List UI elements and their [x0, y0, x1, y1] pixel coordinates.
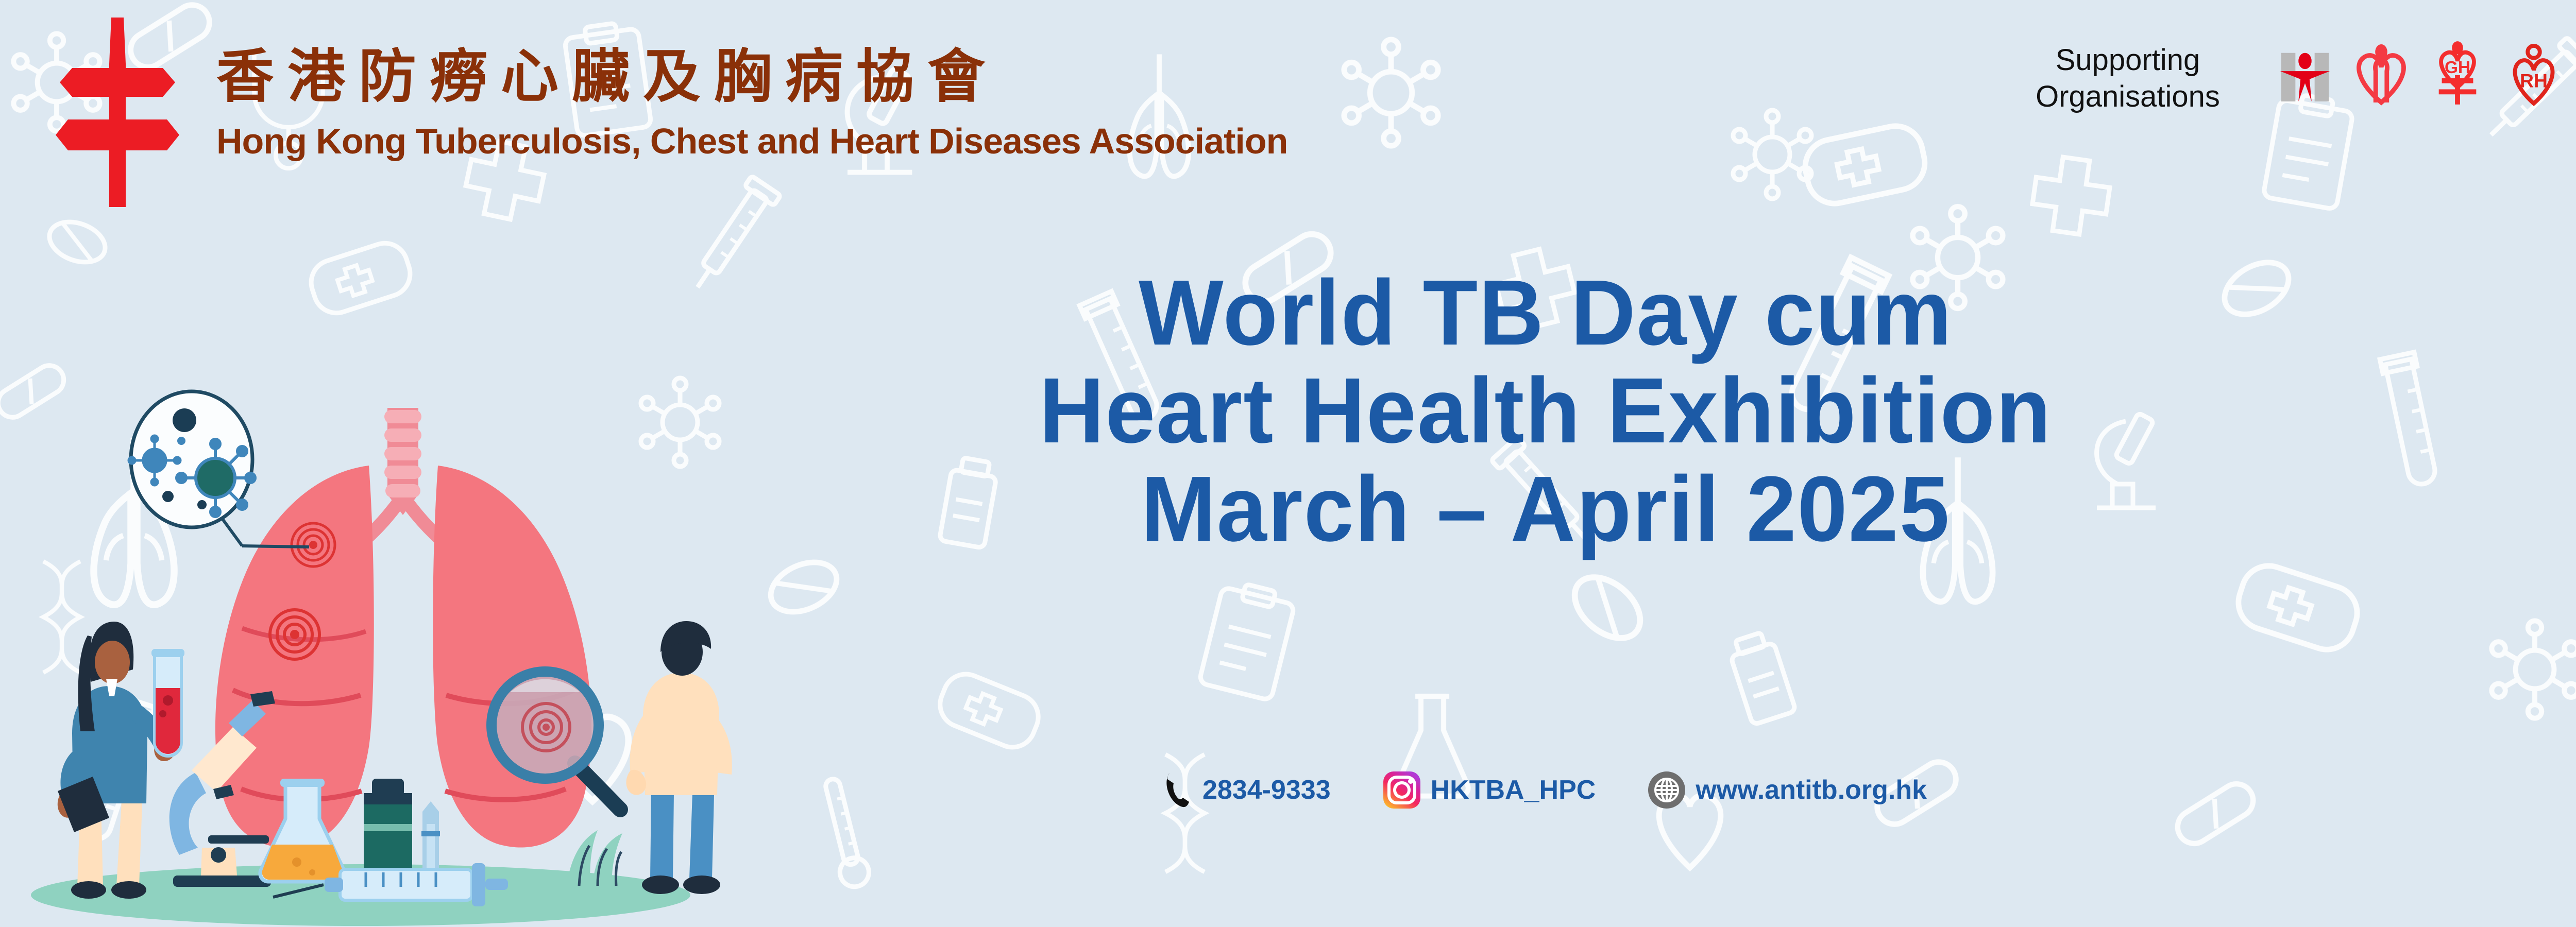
main-title-block: World TB Day cum Heart Health Exhibition…: [804, 268, 2287, 562]
bubble-pointer: [242, 546, 309, 547]
association-name-zh: 香港防癆心臟及胸病協會: [216, 46, 1287, 107]
supporting-label-line1: Supporting: [2030, 42, 2226, 79]
phone-icon: [1164, 770, 1193, 810]
contact-instagram[interactable]: HKTBA_HPC: [1382, 770, 1596, 810]
hands-holding-heart-illustration: [2524, 505, 2576, 927]
phone-number: 2834-9333: [1202, 775, 1331, 805]
supporting-label-line2: Organisations: [2030, 79, 2226, 115]
male-doctor-with-magnifier: [626, 621, 732, 894]
test-tube: [151, 649, 184, 756]
red-heart-person-logo-icon: [2353, 39, 2409, 107]
gh-logo-label: GH: [2445, 58, 2470, 77]
medicine-bottle: [364, 779, 412, 882]
contact-row: 2834-9333 HKTBA_HPC: [804, 770, 2287, 810]
contact-website[interactable]: www.antitb.org.hk: [1647, 770, 1927, 810]
title-line-2: Heart Health Exhibition: [826, 366, 2265, 456]
gh-heart-cross-logo-icon: GH: [2430, 39, 2485, 107]
lungs-tb-diagnosis-illustration: [0, 340, 762, 927]
grey-red-person-logo-icon: [2277, 39, 2333, 107]
instagram-handle: HKTBA_HPC: [1431, 775, 1596, 805]
infection-marker-lower: [270, 610, 319, 659]
bacteria-bubble: [129, 391, 255, 527]
supporting-organisations-label: Supporting Organisations: [2030, 42, 2226, 115]
association-name-en: Hong Kong Tuberculosis, Chest and Heart …: [216, 121, 1287, 162]
double-barred-lorraine-cross-icon: [56, 14, 179, 210]
supporting-organisation-logos: GH RH TSKH: [2277, 37, 2576, 109]
rh-logo-label: RH: [2520, 70, 2548, 91]
globe-icon: [1647, 770, 1686, 810]
header-bar: 香港防癆心臟及胸病協會 Hong Kong Tuberculosis, Ches…: [0, 0, 2576, 216]
instagram-icon: [1382, 770, 1421, 810]
rh-heart-logo-icon: RH: [2506, 39, 2562, 107]
contact-phone[interactable]: 2834-9333: [1164, 770, 1331, 810]
website-url: www.antitb.org.hk: [1696, 775, 1927, 805]
title-line-3: March – April 2025: [826, 464, 2265, 555]
association-name-block: 香港防癆心臟及胸病協會 Hong Kong Tuberculosis, Ches…: [216, 46, 1287, 162]
female-scientist-with-test-tube: [58, 622, 184, 899]
infection-marker-upper: [292, 523, 335, 566]
lung-right: [433, 466, 591, 848]
banner-root: 香港防癆心臟及胸病協會 Hong Kong Tuberculosis, Ches…: [0, 0, 2576, 927]
title-line-1: World TB Day cum: [826, 268, 2265, 358]
